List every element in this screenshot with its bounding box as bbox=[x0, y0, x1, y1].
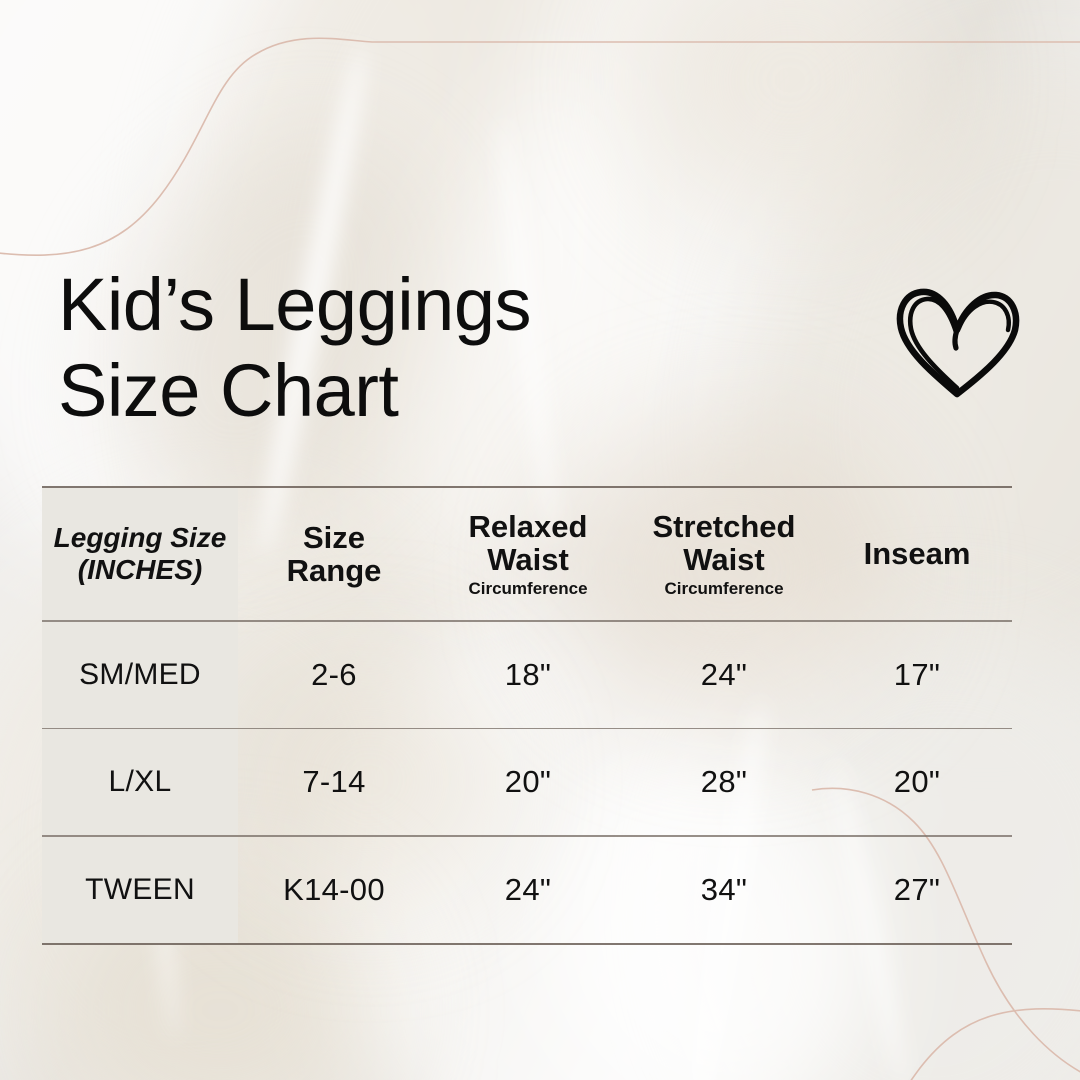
column-header-label: Stretched Waist bbox=[653, 510, 796, 577]
column-header-legging-size: Legging Size (INCHES) bbox=[42, 488, 238, 620]
size-chart-table: Legging Size (INCHES) Size Range Relaxed… bbox=[42, 486, 1012, 945]
column-header-relaxed-waist: Relaxed Waist Circumference bbox=[430, 488, 626, 620]
table-row: L/XL 7-14 20" 28" 20" bbox=[42, 729, 1012, 835]
cell-stretched-waist: 34" bbox=[626, 837, 822, 943]
column-header-label: Relaxed Waist bbox=[469, 510, 588, 577]
cell-inseam: 17" bbox=[822, 622, 1012, 728]
cell-range: K14-00 bbox=[238, 837, 430, 943]
column-header-size-range: Size Range bbox=[238, 488, 430, 620]
column-header-inseam: Inseam bbox=[822, 488, 1012, 620]
column-header-sublabel: Circumference bbox=[664, 580, 783, 599]
cell-relaxed-waist: 24" bbox=[430, 837, 626, 943]
cell-stretched-waist: 24" bbox=[626, 622, 822, 728]
table-row: TWEEN K14-00 24" 34" 27" bbox=[42, 837, 1012, 943]
cell-size: SM/MED bbox=[42, 622, 238, 728]
column-header-label: Legging Size (INCHES) bbox=[54, 522, 227, 586]
column-header-sublabel: Circumference bbox=[468, 580, 587, 599]
cell-stretched-waist: 28" bbox=[626, 729, 822, 835]
column-header-label: Inseam bbox=[864, 537, 971, 570]
cell-inseam: 27" bbox=[822, 837, 1012, 943]
table-bottom-rule bbox=[42, 943, 1012, 945]
page-title: Kid’s Leggings Size Chart bbox=[58, 262, 778, 434]
heart-doodle-icon bbox=[893, 278, 1025, 400]
cell-relaxed-waist: 18" bbox=[430, 622, 626, 728]
column-header-stretched-waist: Stretched Waist Circumference bbox=[626, 488, 822, 620]
size-chart-page: Kid’s Leggings Size Chart Legging Size (… bbox=[0, 0, 1080, 1080]
cell-range: 2-6 bbox=[238, 622, 430, 728]
cell-size: L/XL bbox=[42, 729, 238, 835]
cell-relaxed-waist: 20" bbox=[430, 729, 626, 835]
table-row: SM/MED 2-6 18" 24" 17" bbox=[42, 622, 1012, 728]
cell-range: 7-14 bbox=[238, 729, 430, 835]
table-header-row: Legging Size (INCHES) Size Range Relaxed… bbox=[42, 488, 1012, 620]
cell-size: TWEEN bbox=[42, 837, 238, 943]
cell-inseam: 20" bbox=[822, 729, 1012, 835]
column-header-label: Size Range bbox=[287, 521, 382, 588]
